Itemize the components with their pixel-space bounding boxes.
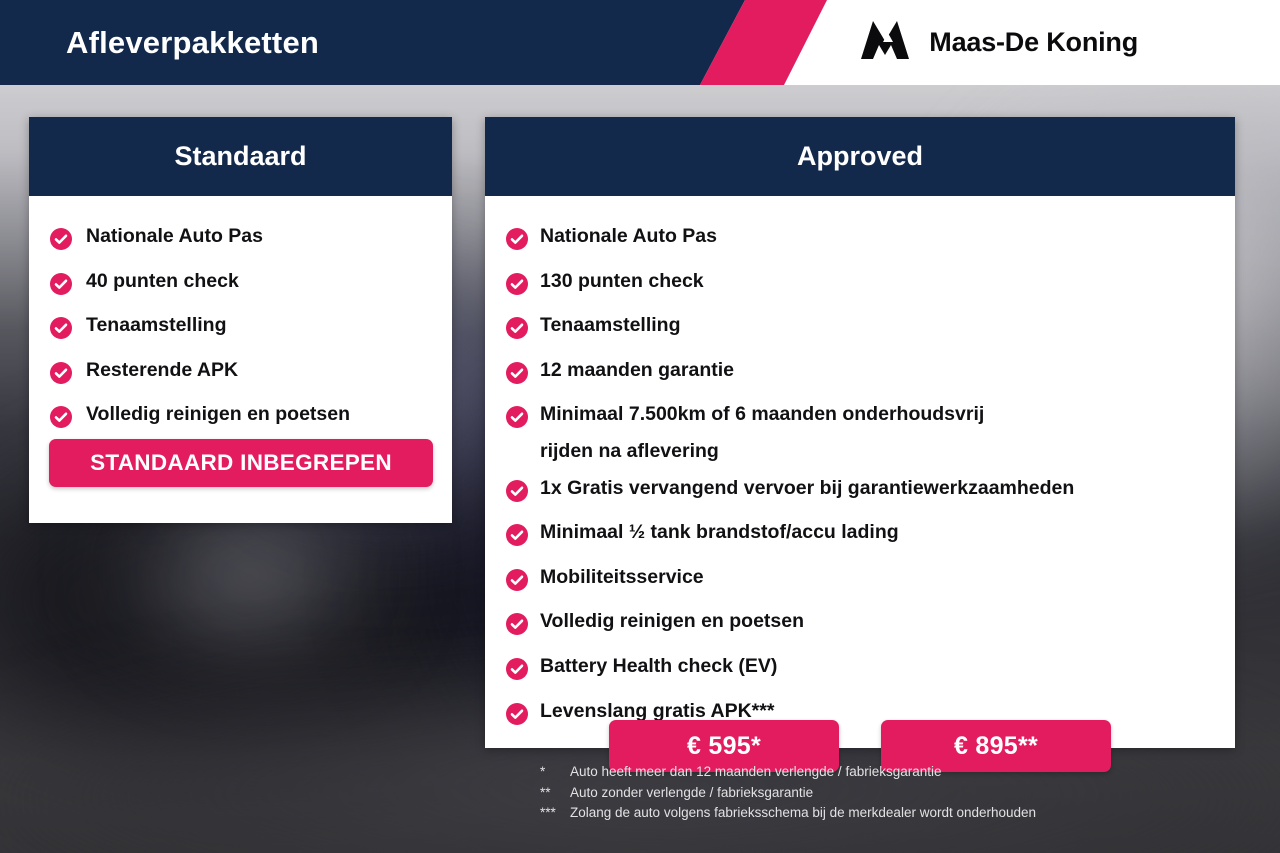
footnote-text: Auto heeft meer dan 12 maanden verlengde…: [570, 762, 942, 783]
list-item: Volledig reinigen en poetsen: [50, 396, 452, 441]
check-circle-icon: [50, 360, 72, 397]
card-title-standaard: Standaard: [29, 117, 452, 196]
feature-label: Tenaamstelling: [86, 307, 227, 344]
feature-label: Nationale Auto Pas: [540, 218, 717, 255]
check-circle-icon: [506, 271, 528, 308]
feature-label: 12 maanden garantie: [540, 352, 734, 389]
package-card-approved: Approved Nationale Auto Pas 130 punten c…: [485, 117, 1235, 748]
list-item: Resterende APK: [50, 352, 452, 397]
list-item: 1x Gratis vervangend vervoer bij garanti…: [506, 470, 1235, 515]
list-item: Tenaamstelling: [506, 307, 1235, 352]
check-circle-icon: [506, 226, 528, 263]
package-card-standaard: Standaard Nationale Auto Pas 40 punten c…: [29, 117, 452, 523]
poster-page: Afleverpakketten Maas-De Koning Standaar…: [0, 0, 1280, 853]
check-circle-icon: [50, 226, 72, 263]
list-item: 12 maanden garantie: [506, 352, 1235, 397]
list-item: Volledig reinigen en poetsen: [506, 603, 1235, 648]
brand-name: Maas-De Koning: [929, 27, 1138, 58]
check-circle-icon: [50, 271, 72, 308]
check-circle-icon: [506, 656, 528, 693]
check-circle-icon: [506, 360, 528, 397]
feature-label: 1x Gratis vervangend vervoer bij garanti…: [540, 470, 1074, 507]
list-item: 130 punten check: [506, 263, 1235, 308]
footnotes: * Auto heeft meer dan 12 maanden verleng…: [540, 762, 1036, 824]
list-item: 40 punten check: [50, 263, 452, 308]
check-circle-icon: [506, 315, 528, 352]
page-title: Afleverpakketten: [66, 0, 319, 85]
card-title-approved: Approved: [485, 117, 1235, 196]
feature-label: Minimaal ½ tank brandstof/accu lading: [540, 514, 899, 551]
maas-de-koning-m-logo-icon: [859, 19, 911, 66]
check-circle-icon: [506, 567, 528, 604]
footnote-marker: *: [540, 762, 570, 783]
list-item: Battery Health check (EV): [506, 648, 1235, 693]
feature-label: Battery Health check (EV): [540, 648, 777, 685]
list-item: Minimaal 7.500km of 6 maanden onderhouds…: [506, 396, 1235, 469]
feature-label: 40 punten check: [86, 263, 239, 300]
standaard-included-button[interactable]: STANDAARD INBEGREPEN: [49, 439, 433, 487]
footnote-marker: ***: [540, 803, 570, 824]
list-item: Mobiliteitsservice: [506, 559, 1235, 604]
brand-logo: Maas-De Koning: [859, 0, 1138, 85]
feature-label: Volledig reinigen en poetsen: [86, 396, 350, 433]
footnote-marker: **: [540, 783, 570, 804]
check-circle-icon: [506, 478, 528, 515]
feature-label: Tenaamstelling: [540, 307, 681, 344]
check-circle-icon: [50, 315, 72, 352]
check-circle-icon: [506, 522, 528, 559]
page-header: Afleverpakketten Maas-De Koning: [0, 0, 1280, 85]
check-circle-icon: [506, 404, 528, 441]
feature-list-approved: Nationale Auto Pas 130 punten check Tena…: [485, 196, 1235, 737]
feature-label: Volledig reinigen en poetsen: [540, 603, 804, 640]
list-item: Nationale Auto Pas: [506, 218, 1235, 263]
footnote-double-star: ** Auto zonder verlengde / fabrieksgaran…: [540, 783, 1036, 804]
footnote-triple-star: *** Zolang de auto volgens fabrieksschem…: [540, 803, 1036, 824]
feature-label: 130 punten check: [540, 263, 704, 300]
footnote-single-star: * Auto heeft meer dan 12 maanden verleng…: [540, 762, 1036, 783]
feature-list-standaard: Nationale Auto Pas 40 punten check Tenaa…: [29, 196, 452, 441]
feature-label: Resterende APK: [86, 352, 238, 389]
card-body-standaard: Nationale Auto Pas 40 punten check Tenaa…: [29, 196, 452, 441]
check-circle-icon: [506, 611, 528, 648]
list-item: Tenaamstelling: [50, 307, 452, 352]
list-item: Nationale Auto Pas: [50, 218, 452, 263]
footnote-text: Zolang de auto volgens fabrieksschema bi…: [570, 803, 1036, 824]
check-circle-icon: [50, 404, 72, 441]
card-body-approved: Nationale Auto Pas 130 punten check Tena…: [485, 196, 1235, 737]
feature-label: Minimaal 7.500km of 6 maanden onderhouds…: [540, 396, 984, 469]
footnote-text: Auto zonder verlengde / fabrieksgarantie: [570, 783, 813, 804]
feature-label: Nationale Auto Pas: [86, 218, 263, 255]
list-item: Minimaal ½ tank brandstof/accu lading: [506, 514, 1235, 559]
feature-label: Mobiliteitsservice: [540, 559, 704, 596]
